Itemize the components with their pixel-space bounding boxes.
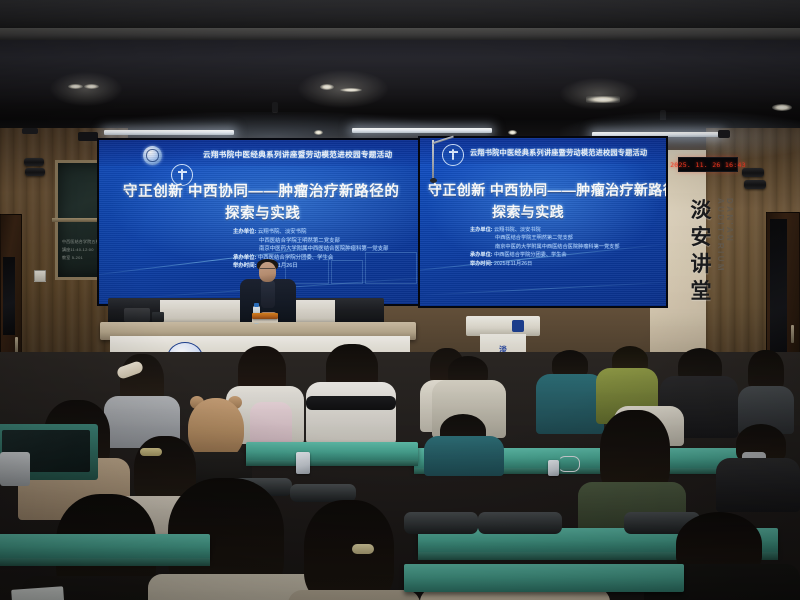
- door-handle-icon[interactable]: [791, 325, 794, 343]
- screen-meta-row: 承办单位: 中西医结合学院分团委、学生会: [233, 254, 388, 263]
- person-collar: [306, 396, 396, 410]
- meta-value: 南京中医药大学附属中西医结合医院肿瘤科第一党支部: [259, 246, 388, 252]
- person-coat: [424, 436, 504, 476]
- venue-name-calligraphy: 淡 安 讲 堂: [684, 196, 718, 304]
- door-handle-icon[interactable]: [15, 337, 18, 353]
- screen-title-line-1: 守正创新 中西协同——肿瘤治疗新路径的: [123, 180, 399, 201]
- smartphone-on-desk[interactable]: [296, 452, 310, 474]
- screen-header-banner: 云翔书院中医经典系列讲座暨劳动模范进校园专题活动: [470, 148, 647, 158]
- wall-light-strip: [104, 130, 234, 135]
- wall-speaker-icon: [24, 158, 44, 166]
- downlight-glow: [560, 78, 638, 110]
- av-control-box-small[interactable]: [152, 312, 164, 322]
- person-hair: [304, 500, 394, 600]
- chair-back: [404, 512, 478, 534]
- calligraphy-char: 安: [684, 223, 718, 250]
- ceiling-downlight: [68, 84, 83, 89]
- led-clock: 2025. 11. 26 16:43: [678, 157, 738, 172]
- screen-meta-row: 中西医结合学院王明然第二党支部: [233, 237, 388, 246]
- screen-meta-row: 中西医结合学院王明然第二党支部: [470, 234, 620, 242]
- screen-meta-row: 举办时间: 2025年11月26日: [470, 260, 620, 268]
- bear-hat: [188, 398, 244, 460]
- ceiling-downlight: [586, 96, 620, 103]
- ceiling-downlight: [340, 88, 362, 92]
- venue-name-en-text: DAN'AN AUDITORIUM: [716, 198, 734, 316]
- student-desk: [246, 442, 418, 462]
- lectern-top: [466, 316, 540, 336]
- door-glass-panel: [770, 219, 787, 369]
- wall-speaker-icon: [25, 168, 45, 176]
- meta-label: 承办单位:: [470, 252, 492, 258]
- meta-label: 主办单位:: [470, 227, 492, 233]
- secondary-emblem-icon: [512, 320, 524, 332]
- screen-title-line-2: 探索与实践: [225, 202, 301, 223]
- microphone-head-icon: [430, 178, 437, 183]
- meta-value: 中西医结合学院王明然第二党支部: [259, 238, 340, 244]
- projector-box: [78, 132, 98, 141]
- desktop-device: [0, 452, 30, 486]
- screen-meta-row: 承办单位: 中西医结合学院分团委、学生会: [470, 251, 620, 259]
- microphone-stand: [432, 140, 434, 180]
- light-switch[interactable]: [34, 270, 46, 282]
- calligraphy-char: 讲: [684, 250, 718, 277]
- audience-area: [0, 352, 800, 600]
- screen-header-banner: 云翔书院中医经典系列讲座暨劳动模范进校园专题活动: [203, 149, 392, 160]
- screen-meta-row: 主办单位: 云翔书院、淡安书院: [233, 228, 388, 237]
- meta-value: 中西医结合学院王明然第二党支部: [495, 235, 573, 241]
- wall-spot-light: [314, 130, 323, 135]
- door-glass-panel: [3, 257, 15, 335]
- charging-cable: [558, 456, 580, 472]
- chair-back: [478, 512, 562, 534]
- lecture-hall-photo: 中西医结合学院五楼 講座11:40-12:00 教室 5-201 云翔书院中医经…: [0, 0, 800, 600]
- hair-clip: [140, 448, 162, 456]
- wall-spot-light: [508, 130, 517, 135]
- ceiling-speaker-icon: [272, 102, 278, 112]
- speaker-glasses-icon: [260, 268, 275, 273]
- meta-label: 举办时间:: [470, 261, 492, 267]
- meta-value: 南京中医药大学附属中西医结合医院肿瘤科第一党支部: [495, 244, 620, 250]
- screen-title-line-2: 探索与实践: [492, 202, 564, 222]
- hair-clip: [352, 544, 374, 554]
- person-coat: [306, 382, 396, 444]
- screen-meta-block: 主办单位: 云翔书院、淡安书院 中西医结合学院王明然第二党支部 南京中医药大学附…: [470, 226, 620, 268]
- student-desk-edge: [246, 460, 418, 466]
- meta-label: 承办单位:: [233, 255, 256, 261]
- student-desk: [0, 534, 210, 560]
- acupuncture-figure-logo-icon: [442, 144, 464, 166]
- wall-light-strip: [352, 128, 492, 133]
- av-control-box[interactable]: [124, 308, 150, 322]
- meta-label: 主办单位:: [233, 229, 256, 235]
- person-coat: [288, 590, 420, 600]
- downlight-glow: [50, 72, 122, 106]
- led-screen-right: 云翔书院中医经典系列讲座暨劳动模范进校园专题活动 守正创新 中西协同——肿瘤治疗…: [420, 138, 666, 306]
- wall-speaker-icon: [742, 168, 764, 177]
- meta-value: 2025年11月26日: [494, 261, 532, 267]
- screen-meta-row: 南京中医药大学附属中西医结合医院肿瘤科第一党支部: [233, 245, 388, 254]
- clock-display: 2025. 11. 26 16:43: [670, 161, 746, 169]
- person-coat: [536, 374, 604, 434]
- screen-meta-row: 主办单位: 云翔书院、淡安书院: [470, 226, 620, 234]
- ceiling-soffit: [0, 28, 800, 40]
- calligraphy-char: 堂: [684, 277, 718, 304]
- paper-sheet: [11, 586, 65, 600]
- speaker-shirt: [261, 280, 275, 308]
- venue-name-english: DAN'AN AUDITORIUM: [716, 198, 730, 316]
- student-desk-edge: [0, 558, 210, 566]
- meta-label: 举办时间:: [233, 263, 256, 269]
- book-orange-cover: [252, 313, 278, 319]
- meta-value: 中西医结合学院分团委、学生会: [494, 252, 567, 258]
- meta-value: 云翔书院、淡安书院: [494, 227, 541, 233]
- ceiling-downlight: [772, 104, 792, 111]
- led-screen-right-frame: 云翔书院中医经典系列讲座暨劳动模范进校园专题活动 守正创新 中西协同——肿瘤治疗…: [418, 136, 668, 308]
- wall-speaker-icon: [744, 180, 766, 189]
- wall-camera-icon: [22, 128, 38, 134]
- bottle-cap: [254, 303, 259, 307]
- screen-meta-row: 南京中医药大学附属中西医结合医院肿瘤科第一党支部: [470, 243, 620, 251]
- wall-camera-icon: [718, 130, 730, 138]
- meta-value: 云翔书院、淡安书院: [258, 229, 307, 235]
- calligraphy-char: 淡: [684, 196, 718, 223]
- ceiling-downlight: [84, 84, 99, 89]
- decor-swoosh: [420, 281, 666, 296]
- student-desk: [404, 564, 684, 592]
- ceiling-downlight: [320, 84, 334, 90]
- person-coat: [716, 458, 800, 512]
- university-seal-logo-icon: [143, 146, 162, 165]
- screen-title-line-1: 守正创新 中西协同——肿瘤治疗新路径的: [428, 180, 666, 200]
